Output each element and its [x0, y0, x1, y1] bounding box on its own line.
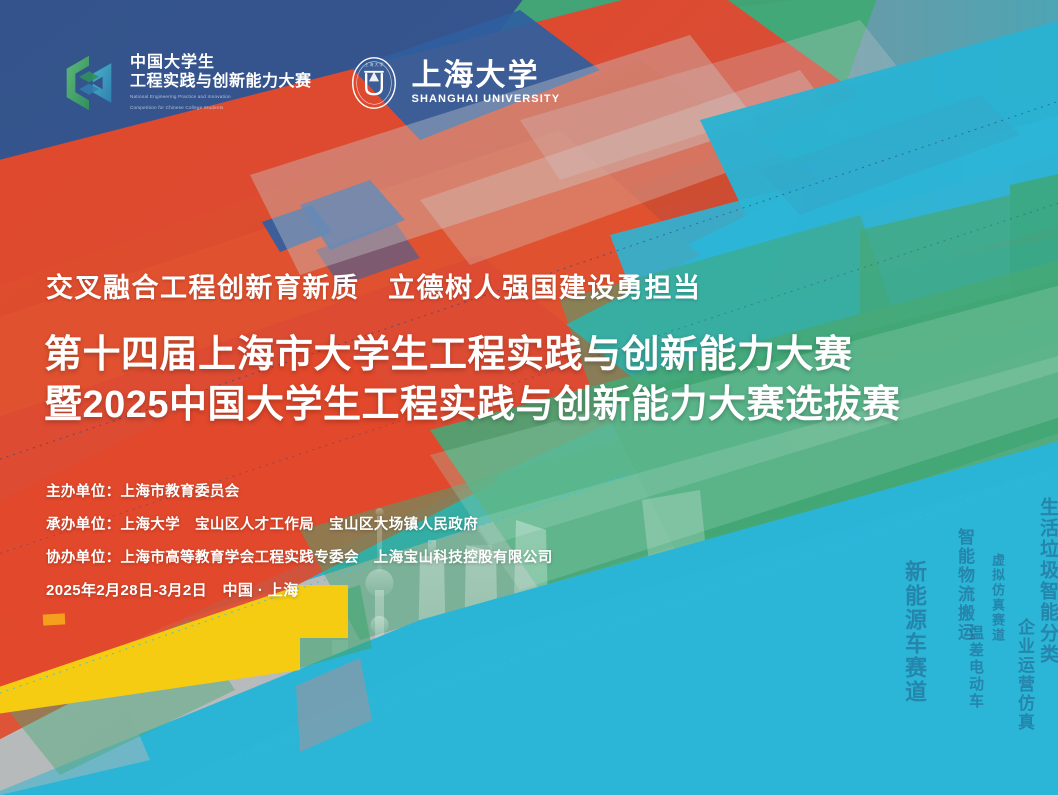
event-slogan: 交叉融合工程创新育新质 立德树人强国建设勇担当 [46, 266, 702, 305]
ceec-mark-icon [58, 52, 120, 114]
track-label-1: 新能源车赛道 [898, 560, 930, 704]
shanghai-university-logo: 上 海 大 学 上海大学 SHANGHAI UNIVERSITY [346, 55, 561, 111]
ceec-logo-english-line2: Competition for Chinese College Students [130, 105, 312, 112]
ceec-logo: 中国大学生 工程实践与创新能力大赛 National Engineering P… [58, 52, 312, 114]
organizer-line-host: 主办单位：上海市教育委员会 [46, 480, 553, 501]
event-title-line2: 暨2025中国大学生工程实践与创新能力大赛选拔赛 [44, 373, 901, 428]
event-date-location: 2025年2月28日-3月2日 中国 · 上海 [46, 579, 553, 600]
organizer-line-coorganizer: 协办单位：上海市高等教育学会工程实践专委会 上海宝山科技控股有限公司 [46, 546, 553, 567]
ceec-logo-english-line1: National Engineering Practice and Innova… [130, 94, 312, 101]
track-label-3: 虚拟仿真赛道 [988, 553, 1007, 643]
shanghai-university-english-name: SHANGHAI UNIVERSITY [412, 94, 561, 105]
organizer-line-undertaker: 承办单位：上海大学 宝山区人才工作局 宝山区大场镇人民政府 [46, 513, 553, 534]
event-title-line1: 第十四届上海市大学生工程实践与创新能力大赛 [44, 323, 853, 378]
track-label-4: 温差电动车 [965, 625, 986, 710]
event-poster: 中国大学生 工程实践与创新能力大赛 National Engineering P… [0, 0, 1058, 795]
logo-row: 中国大学生 工程实践与创新能力大赛 National Engineering P… [58, 52, 560, 114]
organizer-block: 主办单位：上海市教育委员会 承办单位：上海大学 宝山区人才工作局 宝山区大场镇人… [46, 480, 553, 600]
shanghai-university-seal-icon: 上 海 大 学 [346, 55, 402, 111]
track-label-6: 生活垃圾智能分类 [1034, 497, 1058, 665]
svg-text:上 海 大 学: 上 海 大 学 [364, 62, 383, 67]
ceec-logo-line2: 工程实践与创新能力大赛 [130, 74, 312, 90]
shanghai-university-chinese-name: 上海大学 [412, 61, 561, 91]
ceec-logo-line1: 中国大学生 [130, 55, 312, 71]
